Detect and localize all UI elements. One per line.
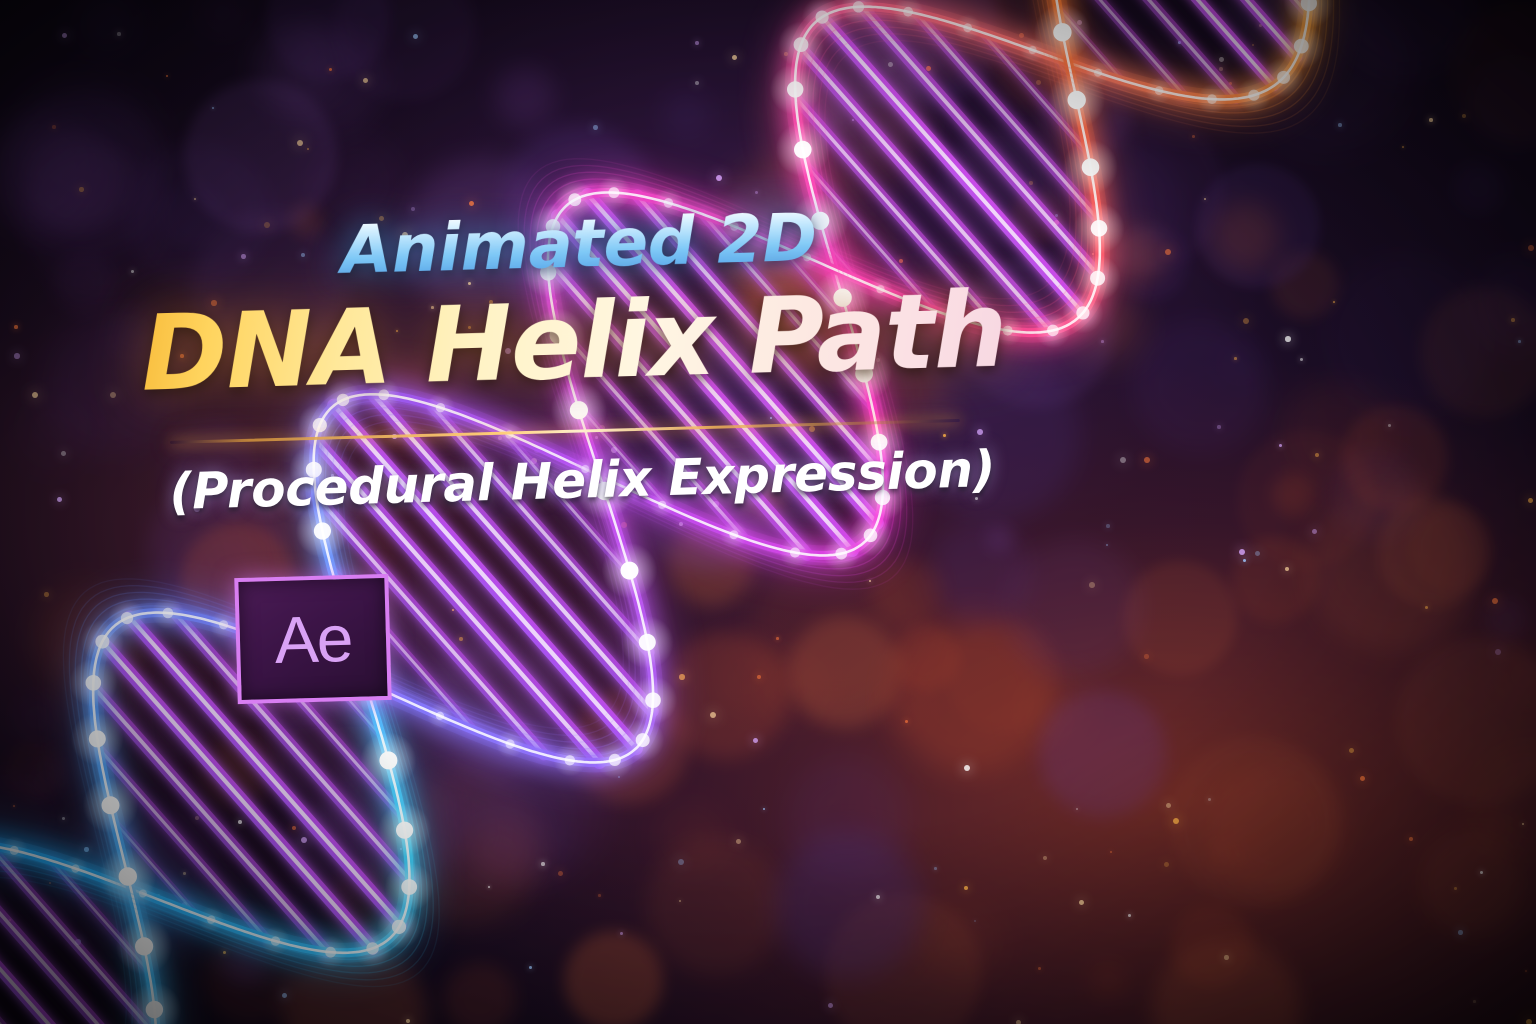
helix-node [609, 754, 621, 766]
helix-node [436, 712, 444, 720]
helix-node [639, 634, 656, 651]
helix-node [392, 920, 406, 934]
helix-node [1294, 39, 1309, 54]
kicker-text: Animated 2D [308, 204, 850, 285]
helix-node [794, 141, 812, 159]
title-group: Animated 2D DNA Helix Path (Procedural H… [130, 199, 1038, 534]
helix-node [95, 635, 109, 649]
helix-node [1076, 306, 1089, 319]
helix-node [790, 547, 800, 557]
helix-node [379, 751, 397, 769]
helix-node [1068, 91, 1086, 109]
helix-node [565, 755, 575, 765]
helix-node [10, 846, 19, 855]
subtitle-text: (Procedural Helix Expression) [167, 444, 998, 517]
helix-node [853, 1, 864, 12]
helix-node [325, 947, 336, 958]
helix-node [903, 7, 913, 17]
helix-node [1248, 90, 1259, 101]
helix-node [1155, 86, 1164, 95]
helix-node [794, 37, 809, 52]
helix-node [1053, 23, 1071, 41]
helix-node [119, 867, 137, 885]
helix-node [1047, 325, 1059, 337]
helix-node [401, 879, 417, 895]
helix-node [864, 529, 878, 543]
after-effects-logo-icon: Ae [234, 574, 391, 704]
helix-node [121, 612, 133, 624]
helix-node [219, 620, 228, 629]
helix-node [835, 548, 847, 560]
helix-node [608, 187, 619, 198]
helix-node [1207, 94, 1217, 104]
after-effects-logo-label: Ae [274, 605, 353, 673]
helix-node [207, 916, 215, 924]
helix-node [729, 530, 738, 539]
helix-node [1094, 69, 1102, 77]
helix-node [1277, 71, 1290, 84]
helix-node [89, 730, 106, 747]
helix-node [86, 675, 102, 691]
poster-canvas: Animated 2D DNA Helix Path (Procedural H… [0, 0, 1536, 1024]
helix-node [146, 1001, 163, 1018]
helix-node [71, 865, 79, 873]
helix-node [1029, 46, 1037, 54]
helix-node [1091, 220, 1108, 237]
helix-node [163, 608, 174, 619]
helix-node [963, 23, 972, 32]
helix-node [506, 739, 515, 748]
helix-node [645, 692, 661, 708]
title-divider [170, 419, 960, 444]
helix-node [366, 942, 378, 954]
helix-node [568, 193, 581, 206]
helix-node [816, 11, 829, 24]
helix-node [1082, 158, 1100, 176]
helix-node [271, 936, 280, 945]
helix-node [636, 733, 650, 747]
helix-node [135, 937, 153, 955]
helix-node [621, 562, 639, 580]
page-title: DNA Helix Path [132, 277, 1015, 406]
helix-node [396, 822, 413, 839]
helix-node [787, 81, 803, 97]
helix-node [102, 796, 120, 814]
helix-node [1090, 271, 1105, 286]
